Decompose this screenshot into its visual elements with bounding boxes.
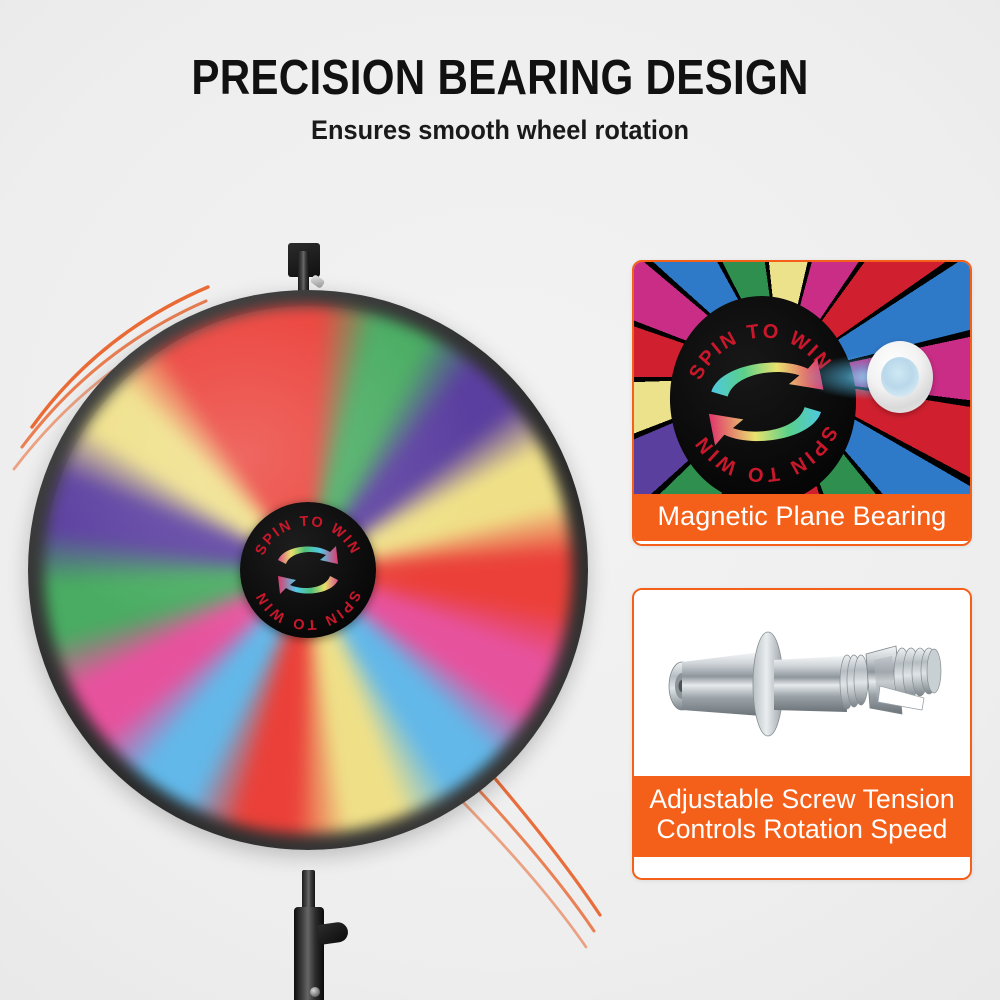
product-feature-image: PRECISION BEARING DESIGN Ensures smooth … bbox=[0, 0, 1000, 1000]
feature-panel-screw-tension: Adjustable Screw Tension Controls Rotati… bbox=[632, 588, 972, 880]
panel-caption-magnetic-bearing: Magnetic Plane Bearing bbox=[634, 494, 970, 541]
page-title: PRECISION BEARING DESIGN bbox=[70, 50, 930, 106]
hub-text-bottom: SPIN TO WIN bbox=[253, 588, 364, 632]
caption-line-2: Controls Rotation Speed bbox=[638, 815, 966, 845]
wheel-rim: SPIN TO WIN SPIN TO WIN bbox=[28, 290, 588, 850]
height-adjust-collar bbox=[294, 907, 324, 1000]
rotation-arrows-icon bbox=[278, 546, 338, 594]
page-subtitle: Ensures smooth wheel rotation bbox=[30, 115, 970, 146]
caption-line-1: Adjustable Screw Tension bbox=[638, 785, 966, 815]
screw-bolt-photo bbox=[634, 590, 970, 776]
collar-bolt-icon bbox=[310, 987, 320, 997]
feature-panel-magnetic-bearing: SPIN TO WIN SPIN TO WIN Magnetic Plane B… bbox=[632, 260, 972, 546]
magnetic-bearing-cap bbox=[867, 341, 933, 413]
axle-bolt-illustration bbox=[634, 590, 970, 776]
clamp-lever[interactable] bbox=[317, 921, 349, 945]
main-product-photo: SPIN TO WIN SPIN TO WIN bbox=[0, 215, 640, 1000]
hub-logo: SPIN TO WIN SPIN TO WIN bbox=[240, 502, 376, 638]
bracket-screw-icon bbox=[310, 274, 326, 289]
bearing-cap-center bbox=[881, 357, 919, 397]
panel-caption-screw-tension: Adjustable Screw Tension Controls Rotati… bbox=[634, 776, 970, 857]
magnetic-bearing-photo: SPIN TO WIN SPIN TO WIN bbox=[634, 262, 970, 494]
wheel-center-hub: SPIN TO WIN SPIN TO WIN bbox=[240, 502, 376, 638]
